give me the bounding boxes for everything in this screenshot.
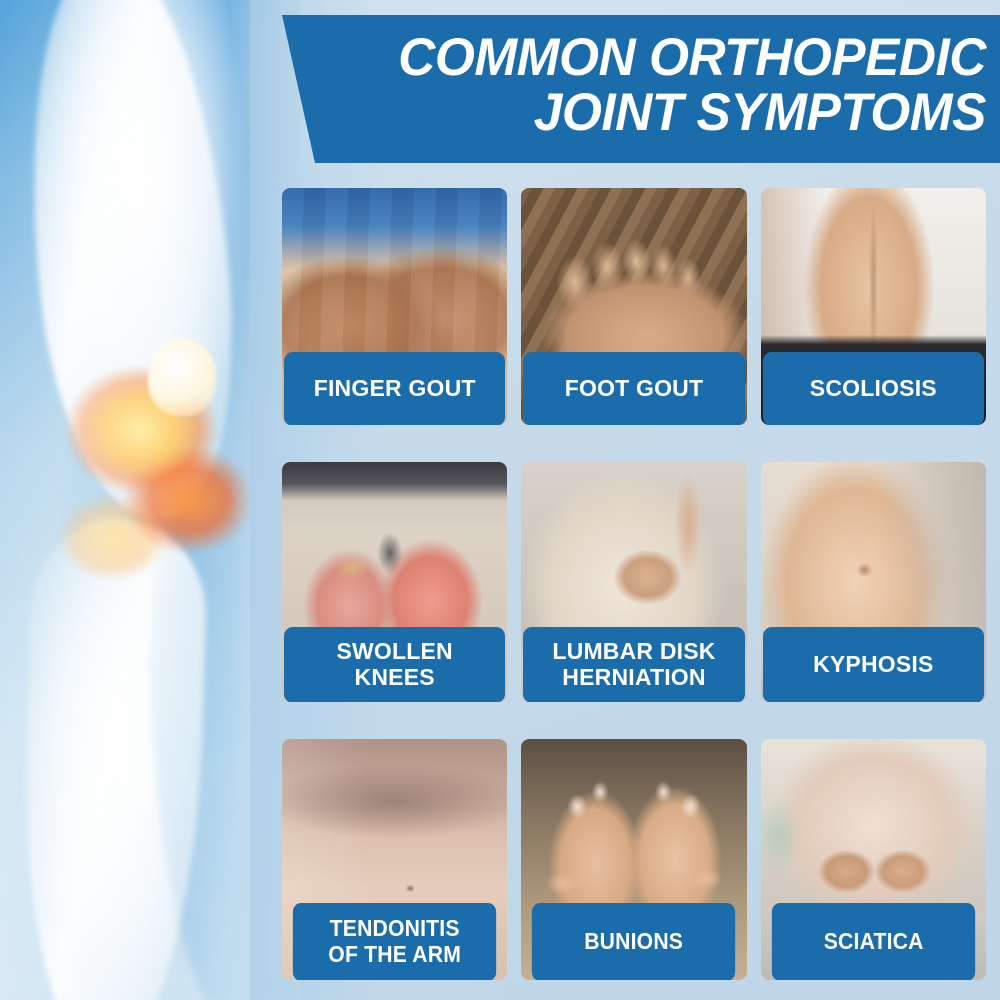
symptom-label-bunions: BUNIONS [532,903,736,980]
hero-xray-image [0,0,300,1000]
symptom-label-tendonitis-of-the-arm: TENDONITIS OF THE ARM [293,903,497,980]
symptom-label-kyphosis: KYPHOSIS [763,627,984,702]
symptom-tile-tendonitis-of-the-arm[interactable]: TENDONITIS OF THE ARM [282,739,507,980]
title-banner: COMMON ORTHOPEDIC JOINT SYMPTOMS [270,15,1000,163]
symptom-label-swollen-knees: SWOLLEN KNEES [284,627,505,702]
symptom-tile-sciatica[interactable]: SCIATICA [761,739,986,980]
symptom-tile-lumbar-disk-herniation[interactable]: LUMBAR DISK HERNIATION [521,462,746,702]
symptom-tile-kyphosis[interactable]: KYPHOSIS [761,462,986,702]
symptom-tile-swollen-knees[interactable]: SWOLLEN KNEES [282,462,507,702]
symptom-tile-scoliosis[interactable]: SCOLIOSIS [761,188,986,425]
symptom-tile-foot-gout[interactable]: FOOT GOUT [521,188,746,425]
symptom-label-sciatica: SCIATICA [772,903,976,980]
poster-root: COMMON ORTHOPEDIC JOINT SYMPTOMS FINGER … [0,0,1000,1000]
symptom-tile-bunions[interactable]: BUNIONS [521,739,746,980]
symptom-label-lumbar-disk-herniation: LUMBAR DISK HERNIATION [523,627,744,702]
symptom-label-finger-gout: FINGER GOUT [284,352,505,425]
symptom-grid: FINGER GOUT FOOT GOUT SCOLIOSIS SWOLLEN … [282,188,986,980]
symptom-label-scoliosis: SCOLIOSIS [763,352,984,425]
symptom-tile-finger-gout[interactable]: FINGER GOUT [282,188,507,425]
page-title: COMMON ORTHOPEDIC JOINT SYMPTOMS [398,31,986,140]
symptom-label-foot-gout: FOOT GOUT [523,352,744,425]
